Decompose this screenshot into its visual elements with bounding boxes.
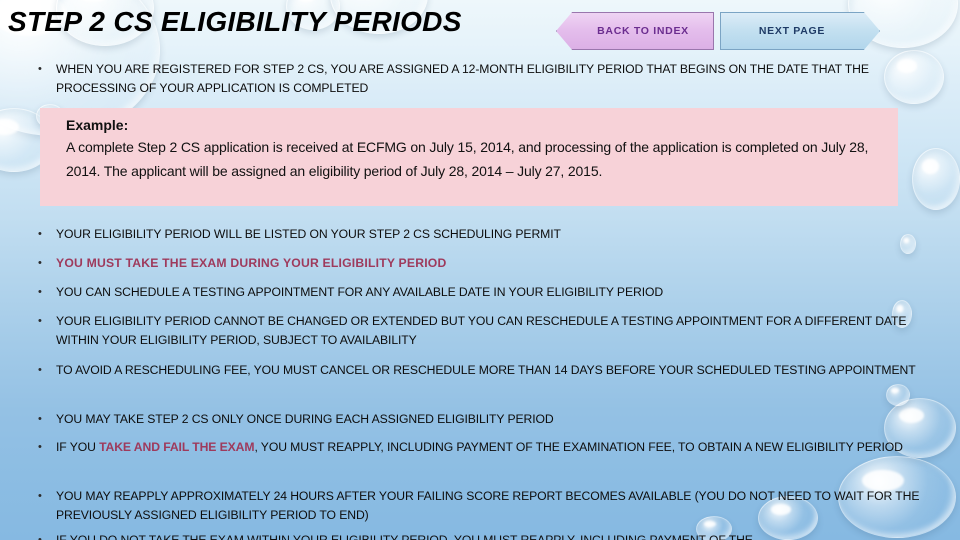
example-title: Example:: [66, 115, 884, 135]
list-item-text: YOUR ELIGIBILITY PERIOD WILL BE LISTED O…: [56, 225, 918, 244]
list-item: • YOUR ELIGIBILITY PERIOD CANNOT BE CHAN…: [38, 312, 918, 350]
text-post: , YOU MUST REAPPLY, INCLUDING PAYMENT OF…: [254, 440, 902, 454]
bullet-marker: •: [38, 410, 56, 429]
text-pre: IF YOU: [56, 440, 99, 454]
list-item-cutoff: • IF YOU DO NOT TAKE THE EXAM WITHIN YOU…: [38, 531, 928, 540]
page-title: STEP 2 CS ELIGIBILITY PERIODS: [8, 6, 462, 38]
list-item-text: WHEN YOU ARE REGISTERED FOR STEP 2 CS, Y…: [56, 60, 922, 98]
list-item-text: IF YOU TAKE AND FAIL THE EXAM, YOU MUST …: [56, 438, 918, 457]
bullet-marker: •: [38, 312, 56, 350]
list-item-emphasis: • YOU MUST TAKE THE EXAM DURING YOUR ELI…: [38, 254, 918, 273]
bullet-marker: •: [38, 254, 56, 273]
list-item: • IF YOU TAKE AND FAIL THE EXAM, YOU MUS…: [38, 438, 918, 457]
list-item-text: YOU MAY TAKE STEP 2 CS ONLY ONCE DURING …: [56, 410, 918, 429]
list-item-text: YOU MAY REAPPLY APPROXIMATELY 24 HOURS A…: [56, 487, 928, 525]
example-callout: Example: A complete Step 2 CS applicatio…: [40, 108, 898, 206]
back-to-index-button[interactable]: BACK TO INDEX: [556, 12, 714, 50]
list-item: • YOU MAY REAPPLY APPROXIMATELY 24 HOURS…: [38, 487, 928, 525]
highlighted-phrase: TAKE AND FAIL THE EXAM: [99, 440, 254, 454]
next-page-button[interactable]: NEXT PAGE: [720, 12, 880, 50]
list-item-text: TO AVOID A RESCHEDULING FEE, YOU MUST CA…: [56, 361, 918, 380]
bullet-marker: •: [38, 361, 56, 380]
list-item-text: YOUR ELIGIBILITY PERIOD CANNOT BE CHANGE…: [56, 312, 918, 350]
list-item-text: YOU CAN SCHEDULE A TESTING APPOINTMENT F…: [56, 283, 918, 302]
list-item: • YOU MAY TAKE STEP 2 CS ONLY ONCE DURIN…: [38, 410, 918, 429]
droplet-icon: [912, 148, 960, 210]
bullet-marker: •: [38, 487, 56, 525]
list-item-text: IF YOU DO NOT TAKE THE EXAM WITHIN YOUR …: [56, 531, 928, 540]
list-item: • YOUR ELIGIBILITY PERIOD WILL BE LISTED…: [38, 225, 918, 244]
list-item-text: YOU MUST TAKE THE EXAM DURING YOUR ELIGI…: [56, 254, 918, 273]
droplet-icon: [886, 384, 910, 406]
list-item: • WHEN YOU ARE REGISTERED FOR STEP 2 CS,…: [38, 60, 922, 98]
example-body: A complete Step 2 CS application is rece…: [66, 135, 884, 183]
bullet-marker: •: [38, 60, 56, 98]
bullet-marker: •: [38, 531, 56, 540]
list-item: • TO AVOID A RESCHEDULING FEE, YOU MUST …: [38, 361, 918, 380]
bullet-marker: •: [38, 283, 56, 302]
bullet-marker: •: [38, 438, 56, 457]
list-item: • YOU CAN SCHEDULE A TESTING APPOINTMENT…: [38, 283, 918, 302]
bullet-marker: •: [38, 225, 56, 244]
